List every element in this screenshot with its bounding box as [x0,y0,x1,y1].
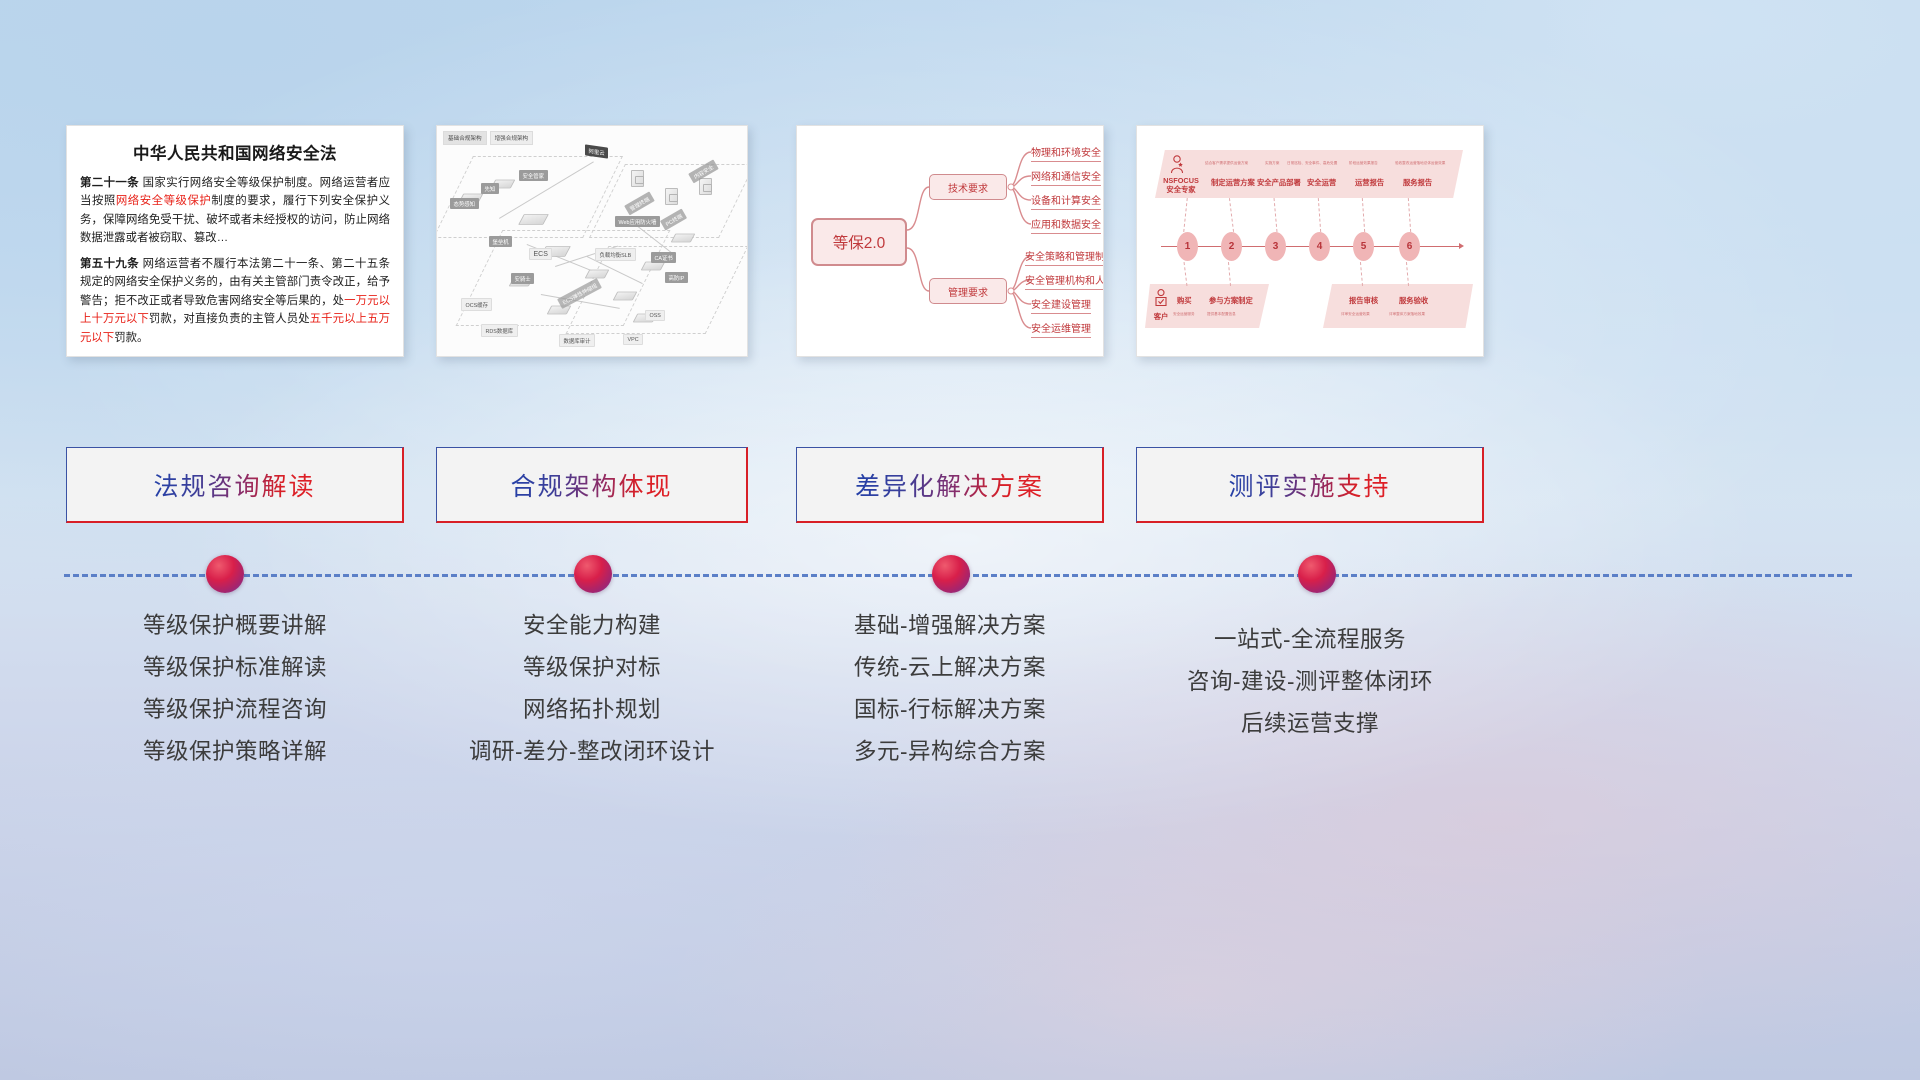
flow-connector [1318,198,1321,232]
flow-axis-arrow-icon [1459,243,1464,249]
law-article-59-label: 第五十九条 [80,258,139,270]
list-item: 调研-差分-整改闭环设计 [436,731,748,773]
flow-step-dot-4[interactable]: 4 [1309,232,1330,261]
flow-step-sub: 结合客户需求提供运营方案 [1205,161,1248,166]
list-item: 咨询-建设-测评整体闭环 [1136,661,1484,703]
law-article-59: 第五十九条 网络运营者不履行本法第二十一条、第二十五条规定的网络安全保护义务的，… [80,255,390,347]
flow-step-main: 报告审核 [1349,296,1378,306]
heading-label: 差异化解决方案 [855,467,1044,503]
expert-person-icon [1169,154,1185,174]
chip-security-butler: 安全管家 [519,170,548,181]
flow-connector [1408,198,1411,232]
heading-box-regulation-consulting[interactable]: 法规咨询解读 [66,447,404,523]
flow-step-sub: 提供基本配置信息 [1207,312,1236,317]
flow-step-sub: 验收整改运营落地总体运营效果 [1395,161,1445,166]
heading-box-compliance-architecture[interactable]: 合规架构体现 [436,447,748,523]
heading-label: 测评实施支持 [1228,467,1390,503]
flow-connector [1184,262,1188,286]
mindmap-branch-management-label: 管理要求 [948,284,988,299]
flow-step-main: 服务验收 [1399,296,1428,306]
law-article-21-highlight: 网络安全等级保护 [116,195,212,207]
tab-enhanced-architecture[interactable]: 增强合规架构 [490,131,534,145]
chip-ocs-cache: OCS缓存 [461,298,492,311]
chip-database-audit: 数据库审计 [559,334,595,347]
customer-person-icon [1153,288,1169,308]
list-item: 等级保护标准解读 [66,647,404,689]
heading-row: 法规咨询解读 合规架构体现 差异化解决方案 测评实施支持 [0,447,1920,525]
mindmap-leaf: 设备和计算安全 [1031,192,1101,210]
list-item: 等级保护概要讲解 [66,605,404,647]
tab-basic-architecture[interactable]: 基础合规架构 [443,131,487,145]
mindmap-branch-technical[interactable]: 技术要求 [929,174,1007,200]
list-item: 网络拓扑规划 [436,689,748,731]
list-item: 一站式-全流程服务 [1136,619,1484,661]
list-item: 国标-行标解决方案 [796,689,1104,731]
chip-anti-ddos-ip: 高防IP [665,272,688,283]
flow-expert-role: 安全专家 [1161,185,1201,195]
service-flow-canvas: NSFOCUS 安全专家 客户 结合客户需求提供运营方案 制定运营方案 实施方案… [1137,126,1483,356]
list-item: 多元-异构综合方案 [796,731,1104,773]
flow-connector [1228,262,1231,286]
chip-vpc: VPC [623,334,643,345]
flow-step-sub: 安全运营服务 [1173,312,1195,317]
heading-box-assessment-support[interactable]: 测评实施支持 [1136,447,1484,523]
flow-step-main: 安全运营 [1307,178,1336,188]
architecture-tabs[interactable]: 基础合规架构 增强合规架构 [443,131,533,145]
mindmap-root-label: 等保2.0 [833,231,886,253]
flow-connector [1362,198,1365,232]
chip-xianzhi: 先知 [481,183,499,194]
flow-bottom-right-band [1323,284,1473,328]
mindmap-leaf: 安全管理机构和人员 [1025,272,1104,290]
flow-step-main: 安全产品部署 [1257,178,1301,188]
flow-step-main: 运营报告 [1355,178,1384,188]
chip-oss: OSS [645,310,665,321]
flow-step-main: 购买 [1177,296,1192,306]
flow-connector [1406,262,1409,286]
flow-step-main: 制定运营方案 [1211,178,1255,188]
detail-column-assessment: 一站式-全流程服务 咨询-建设-测评整体闭环 后续运营支撑 [1136,619,1484,745]
heading-box-differentiated-solution[interactable]: 差异化解决方案 [796,447,1104,523]
architecture-server-node [699,178,712,195]
list-item: 传统-云上解决方案 [796,647,1104,689]
flow-customer-role: 客户 [1153,312,1169,322]
list-item: 等级保护策略详解 [66,731,404,773]
mindmap-leaf: 安全运维管理 [1031,320,1091,338]
flow-step-dot-5[interactable]: 5 [1353,232,1374,261]
chip-bastion-host: 堡垒机 [489,236,512,247]
chip-situation-awareness: 态势感知 [450,198,479,209]
flow-step-dot-1[interactable]: 1 [1177,232,1198,261]
mindmap-root-node[interactable]: 等保2.0 [811,218,907,266]
flow-step-sub: 评审安全运营效果 [1341,312,1370,317]
law-article-59-text-b: 罚款，对直接负责的主管人员处 [149,313,310,325]
card-service-flow[interactable]: NSFOCUS 安全专家 客户 结合客户需求提供运营方案 制定运营方案 实施方案… [1136,125,1484,357]
card-cybersecurity-law[interactable]: 中华人民共和国网络安全法 第二十一条 国家实行网络安全等级保护制度。网络运营者应… [66,125,404,357]
heading-label: 合规架构体现 [510,467,672,503]
mindmap-leaf: 安全建设管理 [1031,296,1091,314]
flow-expert-brand: NSFOCUS [1161,176,1201,185]
list-item: 安全能力构建 [436,605,748,647]
card-mindmap-dengbao[interactable]: 等保2.0 技术要求 管理要求 物理和环境安全 网络和通信安全 设备和计算安全 … [796,125,1104,357]
list-item: 后续运营支撑 [1136,703,1484,745]
flow-step-sub: 阶段运营效果报告 [1349,161,1378,166]
flow-step-sub: 实施方案 [1265,161,1279,166]
chip-ecs: ECS [529,248,552,260]
preview-card-row: 中华人民共和国网络安全法 第二十一条 国家实行网络安全等级保护制度。网络运营者应… [0,125,1920,360]
chip-anqishi: 安骑士 [511,273,534,284]
law-body: 第二十一条 国家实行网络安全等级保护制度。网络运营者应当按照网络安全等级保护制度… [67,164,403,347]
detail-column-architecture: 安全能力构建 等级保护对标 网络拓扑规划 调研-差分-整改闭环设计 [436,605,748,772]
chip-ca-certificate: CA证书 [651,252,676,263]
law-title: 中华人民共和国网络安全法 [67,140,403,164]
law-article-59-text-c: 罚款。 [114,332,148,344]
chip-rds-database: RDS数据库 [481,324,518,337]
flow-step-sub: 日常巡检、安全事件、高危处置 [1287,161,1337,166]
timeline-dot-2[interactable] [574,555,612,593]
flow-step-main: 参与方案制定 [1209,296,1253,306]
detail-column-solution: 基础-增强解决方案 传统-云上解决方案 国标-行标解决方案 多元-异构综合方案 [796,605,1104,772]
mindmap-branch-management[interactable]: 管理要求 [929,278,1007,304]
flow-connector [1360,262,1363,286]
flow-step-sub: 评审整体方案落地效果 [1389,312,1425,317]
heading-label: 法规咨询解读 [153,467,315,503]
list-item: 等级保护流程咨询 [66,689,404,731]
timeline-dot-1[interactable] [206,555,244,593]
flow-step-main: 服务报告 [1403,178,1432,188]
list-item: 等级保护对标 [436,647,748,689]
timeline-dot-3[interactable] [932,555,970,593]
chip-slb: 负载均衡SLB [595,248,636,261]
flow-connector [1229,198,1234,232]
law-article-21-label: 第二十一条 [80,177,139,189]
flow-step-dot-2[interactable]: 2 [1221,232,1242,261]
flow-step-dot-6[interactable]: 6 [1399,232,1420,261]
timeline [0,555,1920,595]
mindmap-leaf: 网络和通信安全 [1031,168,1101,186]
flow-connector [1274,198,1278,232]
flow-connector [1183,198,1188,232]
mindmap-leaf: 安全策略和管理制度 [1025,248,1104,266]
flow-top-band [1155,150,1463,198]
architecture-canvas: 基础合规架构 增强合规架构 [437,126,747,356]
chip-waf: Web应用防火墙 [615,216,660,227]
mindmap-leaf: 物理和环境安全 [1031,144,1101,162]
mindmap-leaf: 应用和数据安全 [1031,216,1101,234]
card-cloud-architecture[interactable]: 基础合规架构 增强合规架构 [436,125,748,357]
architecture-server-node [665,188,678,205]
architecture-node [671,234,696,243]
timeline-dot-4[interactable] [1298,555,1336,593]
architecture-server-node [631,170,644,187]
mindmap-canvas: 等保2.0 技术要求 管理要求 物理和环境安全 网络和通信安全 设备和计算安全 … [797,126,1103,356]
flow-step-dot-3[interactable]: 3 [1265,232,1286,261]
detail-column-regulation: 等级保护概要讲解 等级保护标准解读 等级保护流程咨询 等级保护策略详解 [66,605,404,772]
list-item: 基础-增强解决方案 [796,605,1104,647]
mindmap-branch-technical-label: 技术要求 [948,180,988,195]
law-article-21: 第二十一条 国家实行网络安全等级保护制度。网络运营者应当按照网络安全等级保护制度… [80,174,390,248]
